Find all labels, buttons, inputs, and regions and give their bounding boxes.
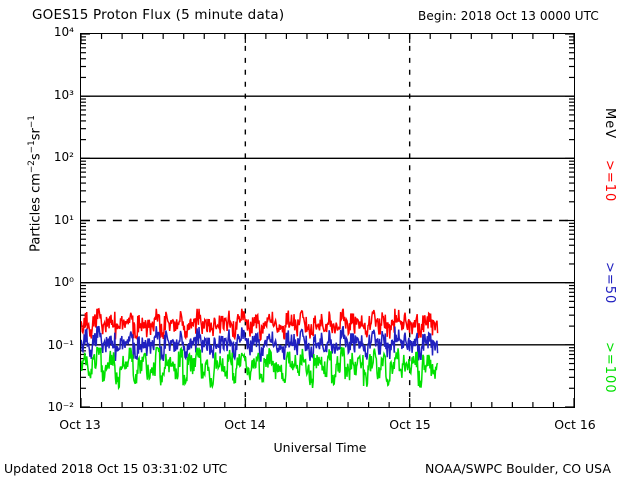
legend-entry-3: >=100	[602, 342, 617, 394]
legend-units-label: MeV	[602, 108, 617, 139]
y-axis-title: Particles cm−2s−1sr−1	[29, 69, 44, 299]
y-tick-label: 10²	[26, 150, 74, 164]
x-tick-label: Oct 13	[35, 417, 125, 432]
x-tick-label: Oct 16	[530, 417, 620, 432]
y-tick-label: 10³	[26, 88, 74, 102]
begin-time-label: Begin: 2018 Oct 13 0000 UTC	[418, 9, 599, 23]
y-tick-label: 10⁴	[26, 25, 74, 39]
legend-entry-2: >=50	[602, 262, 617, 304]
agency-label: NOAA/SWPC Boulder, CO USA	[425, 461, 611, 476]
x-tick-label: Oct 14	[200, 417, 290, 432]
page-title: GOES15 Proton Flux (5 minute data)	[32, 7, 284, 23]
y-tick-label: 10⁻¹	[26, 338, 74, 352]
y-tick-label: 10¹	[26, 213, 74, 227]
updated-timestamp: Updated 2018 Oct 15 03:31:02 UTC	[4, 461, 227, 476]
legend-entry-1: >=10	[602, 160, 617, 202]
chart-canvas	[81, 34, 574, 407]
chart-plot-area	[80, 33, 575, 408]
y-tick-label: 10⁰	[26, 275, 74, 289]
x-tick-label: Oct 15	[365, 417, 455, 432]
y-tick-label: 10⁻²	[26, 400, 74, 414]
x-axis-title: Universal Time	[0, 440, 640, 455]
